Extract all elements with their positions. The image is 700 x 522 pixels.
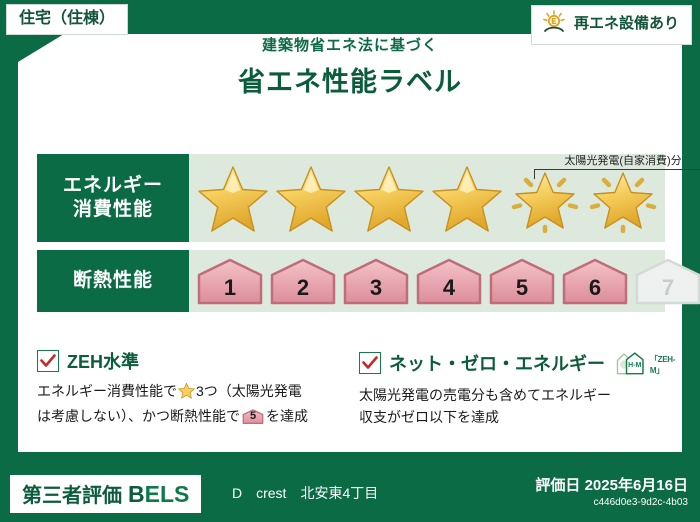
- evaluation-date-label: 評価日: [535, 477, 580, 494]
- netzero-heading: ネット・ゼロ・エネルギー H-M 「ZEH-M」: [359, 348, 659, 378]
- renewable-energy-badge: 再エネ設備あり: [531, 5, 692, 45]
- criteria-columns: ZEH水準 エネルギー消費性能で3つ（太陽光発電は考慮しない）、かつ断熱性能で5…: [37, 348, 667, 428]
- evaluation-date-value: 2025年6月16日: [585, 477, 688, 494]
- zeh-text-part2: 3つ（太陽光発電: [196, 383, 302, 399]
- star-icon-6-solar: [585, 160, 661, 236]
- star-icon-1: [195, 160, 271, 236]
- insulation-row: 断熱性能 1 2 3: [37, 250, 665, 312]
- inline-star-icon: [178, 382, 195, 406]
- insulation-grade-1-num: 1: [224, 275, 236, 305]
- energy-consumption-key: エネルギー 消費性能: [37, 154, 189, 242]
- insulation-grade-5-num: 5: [516, 275, 528, 305]
- building-type-label: 住宅（住棟）: [19, 10, 115, 27]
- zeh-heading: ZEH水準: [37, 348, 337, 374]
- bels-badge: 第三者評価 BELS: [10, 475, 201, 513]
- netzero-text-line1: 太陽光発電の売電分も含めてエネルギー: [359, 387, 611, 403]
- insulation-value: 1 2 3 4: [189, 250, 700, 312]
- star-rating: [195, 160, 661, 236]
- evaluation-id: c446d0e3-9d2c-4b03: [535, 497, 688, 508]
- inline-insulation-badge-num: 5: [242, 408, 264, 425]
- zeh-title: ZEH水準: [67, 348, 139, 374]
- zeh-text-part1: エネルギー消費性能で: [37, 383, 177, 399]
- star-icon-2: [273, 160, 349, 236]
- insulation-grade-6-num: 6: [589, 275, 601, 305]
- insulation-key: 断熱性能: [37, 250, 189, 312]
- zeh-criteria-column: ZEH水準 エネルギー消費性能で3つ（太陽光発電は考慮しない）、かつ断熱性能で5…: [37, 348, 337, 428]
- bels-en-rest: ELS: [145, 481, 190, 507]
- label-footer: 第三者評価 BELS D crest 北安東4丁目 評価日 2025年6月16日…: [0, 466, 700, 522]
- check-icon-netzero: [359, 352, 381, 374]
- building-type-tab: 住宅（住棟）: [6, 4, 128, 35]
- energy-performance-label: 住宅（住棟） 再エネ設備あり 建築物省エネ法に基づく 省エネ性能ラベル: [0, 0, 700, 522]
- evaluation-date-line: 評価日 2025年6月16日: [535, 474, 688, 495]
- energy-consumption-value: 太陽光発電(自家消費)分: [189, 154, 665, 242]
- star-icon-4: [429, 160, 505, 236]
- insulation-grade-7: 7: [633, 257, 700, 305]
- star-icon-5-solar: [507, 160, 583, 236]
- bels-en-label: BELS: [128, 481, 189, 508]
- zeh-text-part4: を達成: [266, 408, 308, 424]
- energy-consumption-row: エネルギー 消費性能: [37, 154, 665, 242]
- energy-key-line2: 消費性能: [73, 198, 153, 222]
- zeh-m-caption: 「ZEH-M」: [650, 354, 682, 378]
- label-main-title: 省エネ性能ラベル: [0, 60, 700, 99]
- insulation-grade-5: 5: [487, 257, 557, 305]
- netzero-title: ネット・ゼロ・エネルギー: [389, 350, 605, 376]
- netzero-description: 太陽光発電の売電分も含めてエネルギー収支がゼロ以下を達成: [359, 385, 659, 428]
- insulation-grade-3: 3: [341, 257, 411, 305]
- insulation-grade-6: 6: [560, 257, 630, 305]
- netzero-text-line2: 収支がゼロ以下を達成: [359, 409, 499, 425]
- zeh-m-logo: H-M 「ZEH-M」: [615, 348, 682, 378]
- insulation-grade-7-num: 7: [662, 275, 674, 305]
- evaluation-info: 評価日 2025年6月16日 c446d0e3-9d2c-4b03: [535, 474, 688, 508]
- insulation-key-label: 断熱性能: [73, 269, 153, 293]
- netzero-criteria-column: ネット・ゼロ・エネルギー H-M 「ZEH-M」 太陽光発電の売電分も含めてエネ…: [359, 348, 659, 428]
- insulation-grade-2: 2: [268, 257, 338, 305]
- bels-jp-label: 第三者評価: [22, 479, 122, 508]
- insulation-grade-4-num: 4: [443, 275, 455, 305]
- bels-en-b: B: [128, 481, 145, 507]
- star-icon-3: [351, 160, 427, 236]
- performance-rows: エネルギー 消費性能: [37, 154, 665, 320]
- check-icon-zeh: [37, 350, 59, 372]
- inline-insulation-badge-icon: 5: [242, 408, 264, 425]
- energy-key-line1: エネルギー: [63, 174, 163, 198]
- zeh-m-logo-text: H-M: [628, 362, 641, 369]
- zeh-text-part3: は考慮しない）、かつ断熱性能で: [37, 408, 240, 424]
- insulation-grade-3-num: 3: [370, 275, 382, 305]
- insulation-grade-scale: 1 2 3 4: [195, 257, 700, 305]
- renewable-energy-label: 再エネ設備あり: [574, 16, 679, 33]
- insulation-grade-1: 1: [195, 257, 265, 305]
- building-name: D crest 北安東4丁目: [232, 483, 378, 503]
- insulation-grade-4: 4: [414, 257, 484, 305]
- zeh-description: エネルギー消費性能で3つ（太陽光発電は考慮しない）、かつ断熱性能で5を達成: [37, 381, 337, 427]
- insulation-grade-2-num: 2: [297, 275, 309, 305]
- solar-sun-icon: [541, 10, 567, 39]
